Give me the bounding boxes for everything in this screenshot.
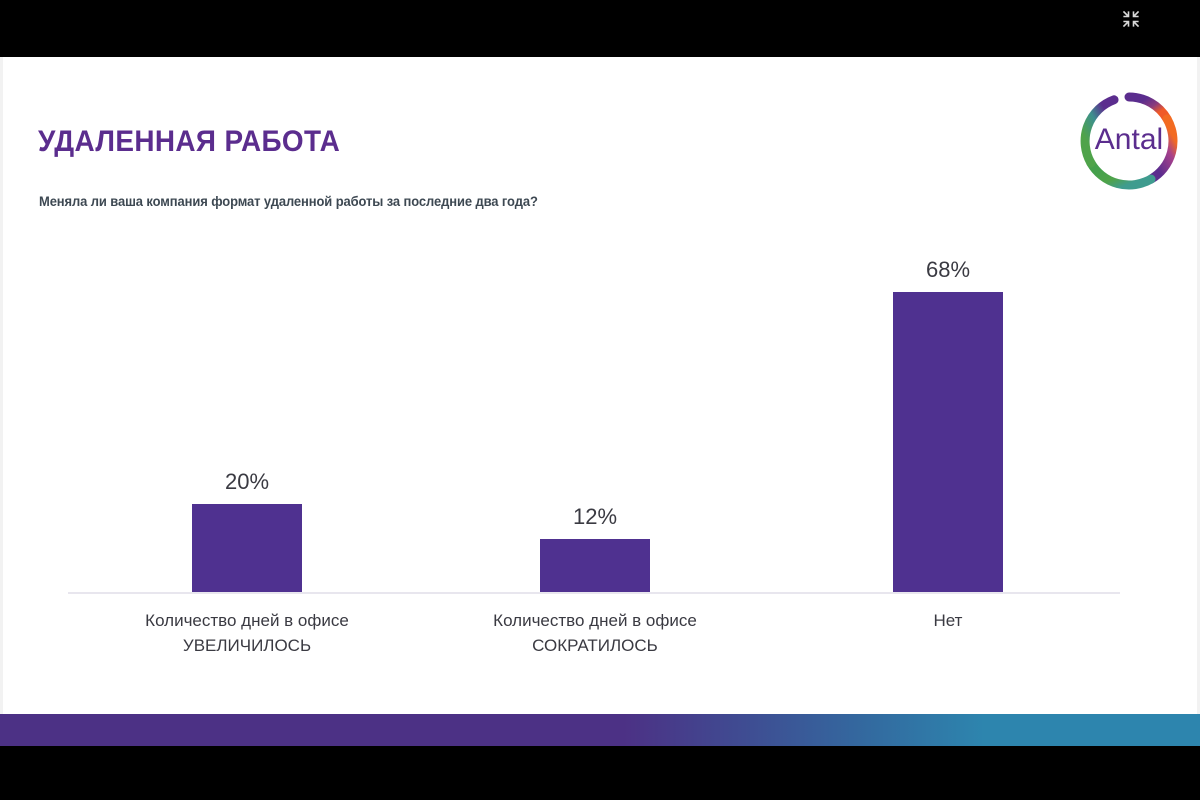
bar-chart: 20% Количество дней в офисе УВЕЛИЧИЛОСЬ …: [0, 57, 1200, 714]
bar-group[interactable]: 20% Количество дней в офисе УВЕЛИЧИЛОСЬ: [127, 57, 367, 714]
bar-value-label: 12%: [573, 504, 617, 530]
bar[interactable]: [192, 504, 302, 592]
bar-value-label: 68%: [926, 257, 970, 283]
viewer-bottombar: [0, 746, 1200, 800]
bar-value-label: 20%: [225, 469, 269, 495]
bar[interactable]: [893, 292, 1003, 592]
bar-category-label: Нет: [798, 608, 1098, 633]
presentation-viewer: УДАЛЕННАЯ РАБОТА Меняла ли ваша компания…: [0, 0, 1200, 800]
exit-fullscreen-icon[interactable]: [1118, 6, 1144, 32]
footer-gradient-bar: [0, 714, 1200, 746]
bar-group[interactable]: 68% Нет: [828, 57, 1068, 714]
bar-group[interactable]: 12% Количество дней в офисе СОКРАТИЛОСЬ: [475, 57, 715, 714]
bar-category-label: Количество дней в офисе СОКРАТИЛОСЬ: [445, 608, 745, 658]
slide-canvas[interactable]: УДАЛЕННАЯ РАБОТА Меняла ли ваша компания…: [0, 57, 1200, 714]
bar[interactable]: [540, 539, 650, 592]
bar-category-label: Количество дней в офисе УВЕЛИЧИЛОСЬ: [97, 608, 397, 658]
viewer-topbar: [0, 0, 1200, 57]
